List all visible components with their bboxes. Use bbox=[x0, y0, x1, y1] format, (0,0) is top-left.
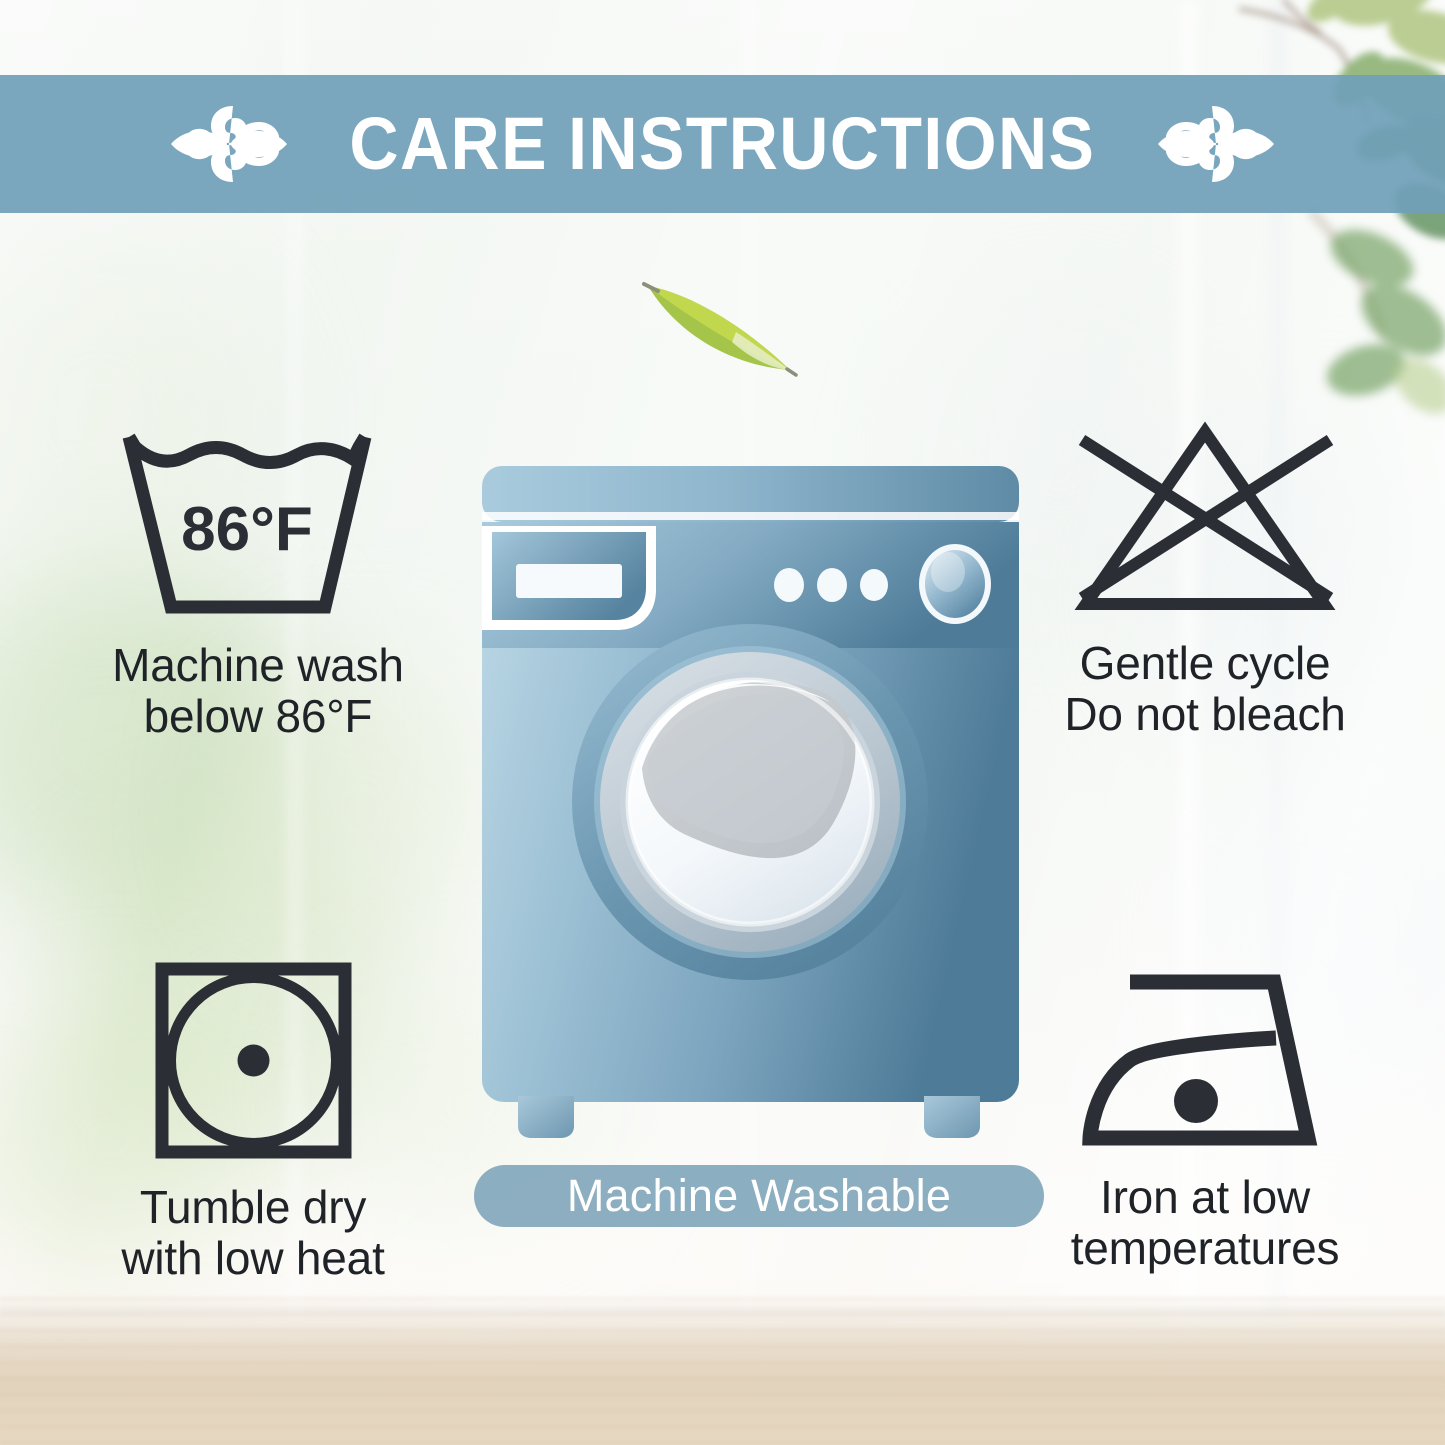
fleur-de-lis-ornament-icon bbox=[1154, 98, 1278, 190]
caption-line: Machine wash bbox=[18, 640, 498, 691]
front-load-washing-machine-illustration bbox=[478, 462, 1023, 1142]
fleur-de-lis-ornament-icon bbox=[167, 98, 291, 190]
washer-door-icon bbox=[572, 624, 928, 980]
care-instructions-banner: CARE INSTRUCTIONS bbox=[0, 75, 1445, 213]
washer-feet bbox=[518, 1096, 980, 1138]
detergent-drawer-icon bbox=[482, 526, 656, 630]
caption-line: Gentle cycle bbox=[960, 638, 1445, 689]
symbol-iron-low: Iron at low temperatures bbox=[960, 960, 1445, 1274]
tumble-dry-low-heat-icon bbox=[151, 960, 356, 1160]
triangle-crossed-out-icon bbox=[1068, 418, 1343, 618]
symbol-tumble-dry-low: Tumble dry with low heat bbox=[18, 960, 488, 1284]
machine-washable-badge: Machine Washable bbox=[474, 1165, 1044, 1227]
wood-grain-texture bbox=[0, 1295, 1445, 1445]
symbol-caption: Tumble dry with low heat bbox=[18, 1182, 488, 1284]
page-title: CARE INSTRUCTIONS bbox=[350, 107, 1096, 181]
caption-line: below 86°F bbox=[18, 691, 498, 742]
symbol-caption: Machine wash below 86°F bbox=[18, 640, 498, 742]
iron-low-temperature-icon bbox=[1078, 960, 1333, 1150]
washer-control-dots bbox=[774, 568, 888, 602]
blurred-leaf-branch-icon bbox=[1300, 200, 1445, 420]
caption-line: Tumble dry bbox=[18, 1182, 488, 1233]
symbol-machine-wash: 86°F Machine wash below 86°F bbox=[18, 425, 498, 742]
washer-top-lid bbox=[482, 466, 1019, 522]
wash-tub-icon: 86°F bbox=[113, 425, 403, 620]
green-leaf-icon bbox=[640, 272, 800, 377]
symbol-do-not-bleach: Gentle cycle Do not bleach bbox=[960, 418, 1445, 740]
caption-line: Do not bleach bbox=[960, 689, 1445, 740]
rotary-knob-icon bbox=[919, 544, 991, 624]
machine-washable-label: Machine Washable bbox=[567, 1170, 951, 1222]
wash-temperature-label: 86°F bbox=[181, 495, 313, 564]
caption-line: with low heat bbox=[18, 1233, 488, 1284]
caption-line: temperatures bbox=[960, 1223, 1445, 1274]
symbol-caption: Gentle cycle Do not bleach bbox=[960, 638, 1445, 740]
